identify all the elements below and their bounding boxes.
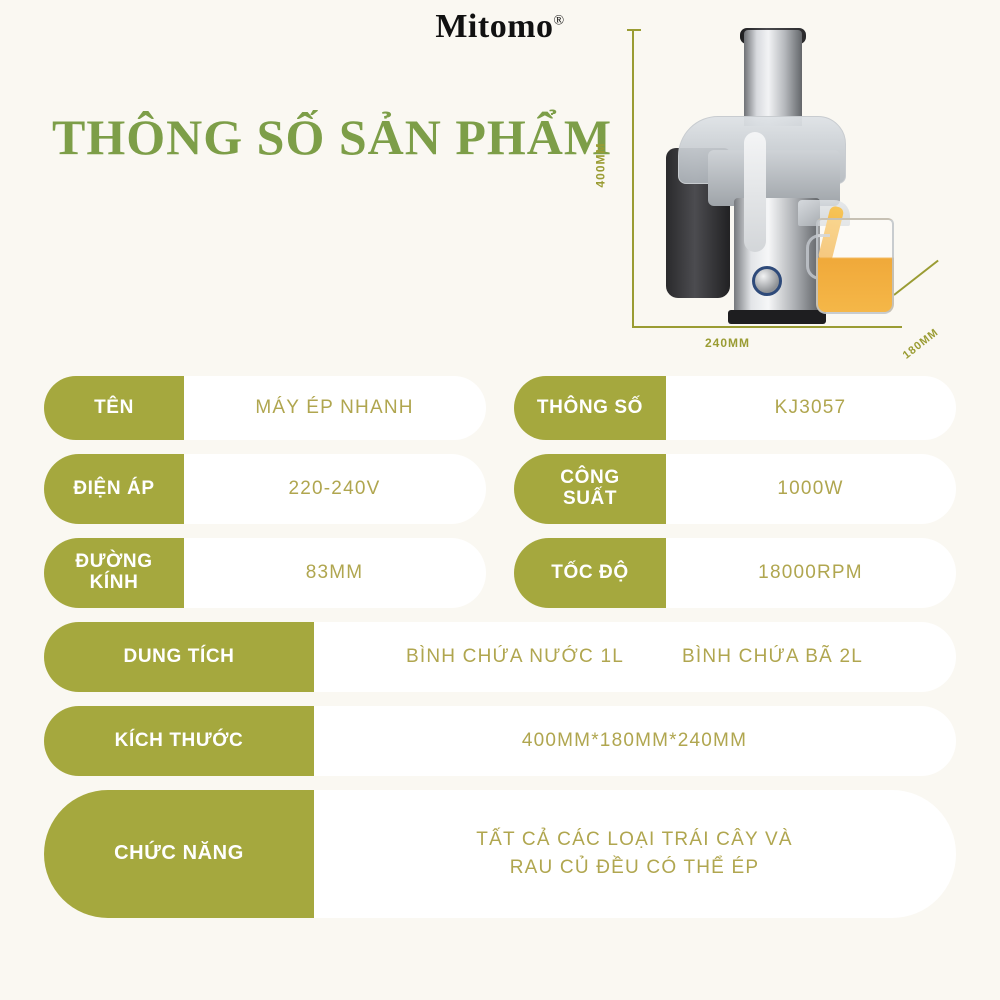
page-title: THÔNG SỐ SẢN PHẨM	[52, 108, 612, 166]
spec-cell-name: TÊN MÁY ÉP NHANH	[44, 376, 486, 440]
juice-jug	[816, 218, 894, 314]
spec-label-capacity: DUNG TÍCH	[44, 622, 314, 692]
spec-cell-speed: TỐC ĐỘ 18000RPM	[514, 538, 956, 608]
spec-table: TÊN MÁY ÉP NHANH THÔNG SỐ KJ3057 ĐIỆN ÁP…	[44, 376, 956, 932]
spec-value-name: MÁY ÉP NHANH	[183, 376, 486, 440]
spec-label-speed: TỐC ĐỘ	[514, 538, 666, 608]
spec-row: KÍCH THƯỚC 400MM*180MM*240MM	[44, 706, 956, 776]
juicer-base	[728, 310, 826, 324]
spec-cell-model: THÔNG SỐ KJ3057	[514, 376, 956, 440]
spec-label-name: TÊN	[44, 376, 184, 440]
spec-value-function-line2: RAU CỦ ĐỀU CÓ THỂ ÉP	[476, 854, 792, 882]
spec-label-power: CÔNG SUẤT	[514, 454, 666, 524]
spec-value-function: TẤT CẢ CÁC LOẠI TRÁI CÂY VÀ RAU CỦ ĐỀU C…	[313, 790, 956, 918]
dimension-label-height: 400MM	[594, 142, 608, 187]
spec-value-size: 400MM*180MM*240MM	[313, 706, 956, 776]
spec-value-voltage: 220-240V	[183, 454, 486, 524]
dimension-label-depth: 180MM	[901, 326, 941, 361]
spec-label-diameter: ĐƯỜNG KÍNH	[44, 538, 184, 608]
spec-value-power: 1000W	[665, 454, 956, 524]
juicer-illustration	[648, 28, 898, 328]
spec-row: DUNG TÍCH BÌNH CHỨA NƯỚC 1L BÌNH CHỨA BÃ…	[44, 622, 956, 692]
spec-value-diameter: 83MM	[183, 538, 486, 608]
spec-cell-capacity: DUNG TÍCH BÌNH CHỨA NƯỚC 1L BÌNH CHỨA BÃ…	[44, 622, 956, 692]
spec-label-function: CHỨC NĂNG	[44, 790, 314, 918]
registered-trademark-icon: ®	[554, 14, 565, 29]
spec-value-capacity: BÌNH CHỨA NƯỚC 1L BÌNH CHỨA BÃ 2L	[313, 622, 956, 692]
brand-name: Mitomo	[435, 8, 553, 45]
spec-cell-voltage: ĐIỆN ÁP 220-240V	[44, 454, 486, 524]
spec-row: ĐIỆN ÁP 220-240V CÔNG SUẤT 1000W	[44, 454, 956, 524]
product-image-block: 400MM 240MM 180MM	[600, 18, 950, 363]
juicer-speed-dial	[752, 266, 782, 296]
spec-label-diameter-line2: KÍNH	[75, 573, 152, 594]
spec-label-size: KÍCH THƯỚC	[44, 706, 314, 776]
spec-cell-diameter: ĐƯỜNG KÍNH 83MM	[44, 538, 486, 608]
spec-value-model: KJ3057	[665, 376, 956, 440]
spec-cell-size: KÍCH THƯỚC 400MM*180MM*240MM	[44, 706, 956, 776]
spec-label-power-line2: SUẤT	[560, 489, 619, 510]
spec-value-function-line1: TẤT CẢ CÁC LOẠI TRÁI CÂY VÀ	[476, 826, 792, 854]
spec-label-model: THÔNG SỐ	[514, 376, 666, 440]
spec-label-voltage: ĐIỆN ÁP	[44, 454, 184, 524]
spec-label-diameter-line1: ĐƯỜNG	[75, 552, 152, 573]
juicer-control-panel	[744, 132, 766, 252]
spec-row: CHỨC NĂNG TẤT CẢ CÁC LOẠI TRÁI CÂY VÀ RA…	[44, 790, 956, 918]
spec-value-capacity-pulp: BÌNH CHỨA BÃ 2L	[682, 643, 863, 671]
juicer-feed-chute	[744, 30, 802, 126]
spec-label-power-line1: CÔNG	[560, 468, 619, 489]
spec-cell-function: CHỨC NĂNG TẤT CẢ CÁC LOẠI TRÁI CÂY VÀ RA…	[44, 790, 956, 918]
spec-row: ĐƯỜNG KÍNH 83MM TỐC ĐỘ 18000RPM	[44, 538, 956, 608]
spec-value-capacity-juice: BÌNH CHỨA NƯỚC 1L	[406, 643, 624, 671]
spec-cell-power: CÔNG SUẤT 1000W	[514, 454, 956, 524]
dimension-label-width: 240MM	[705, 336, 750, 350]
spec-value-speed: 18000RPM	[665, 538, 956, 608]
spec-row: TÊN MÁY ÉP NHANH THÔNG SỐ KJ3057	[44, 376, 956, 440]
